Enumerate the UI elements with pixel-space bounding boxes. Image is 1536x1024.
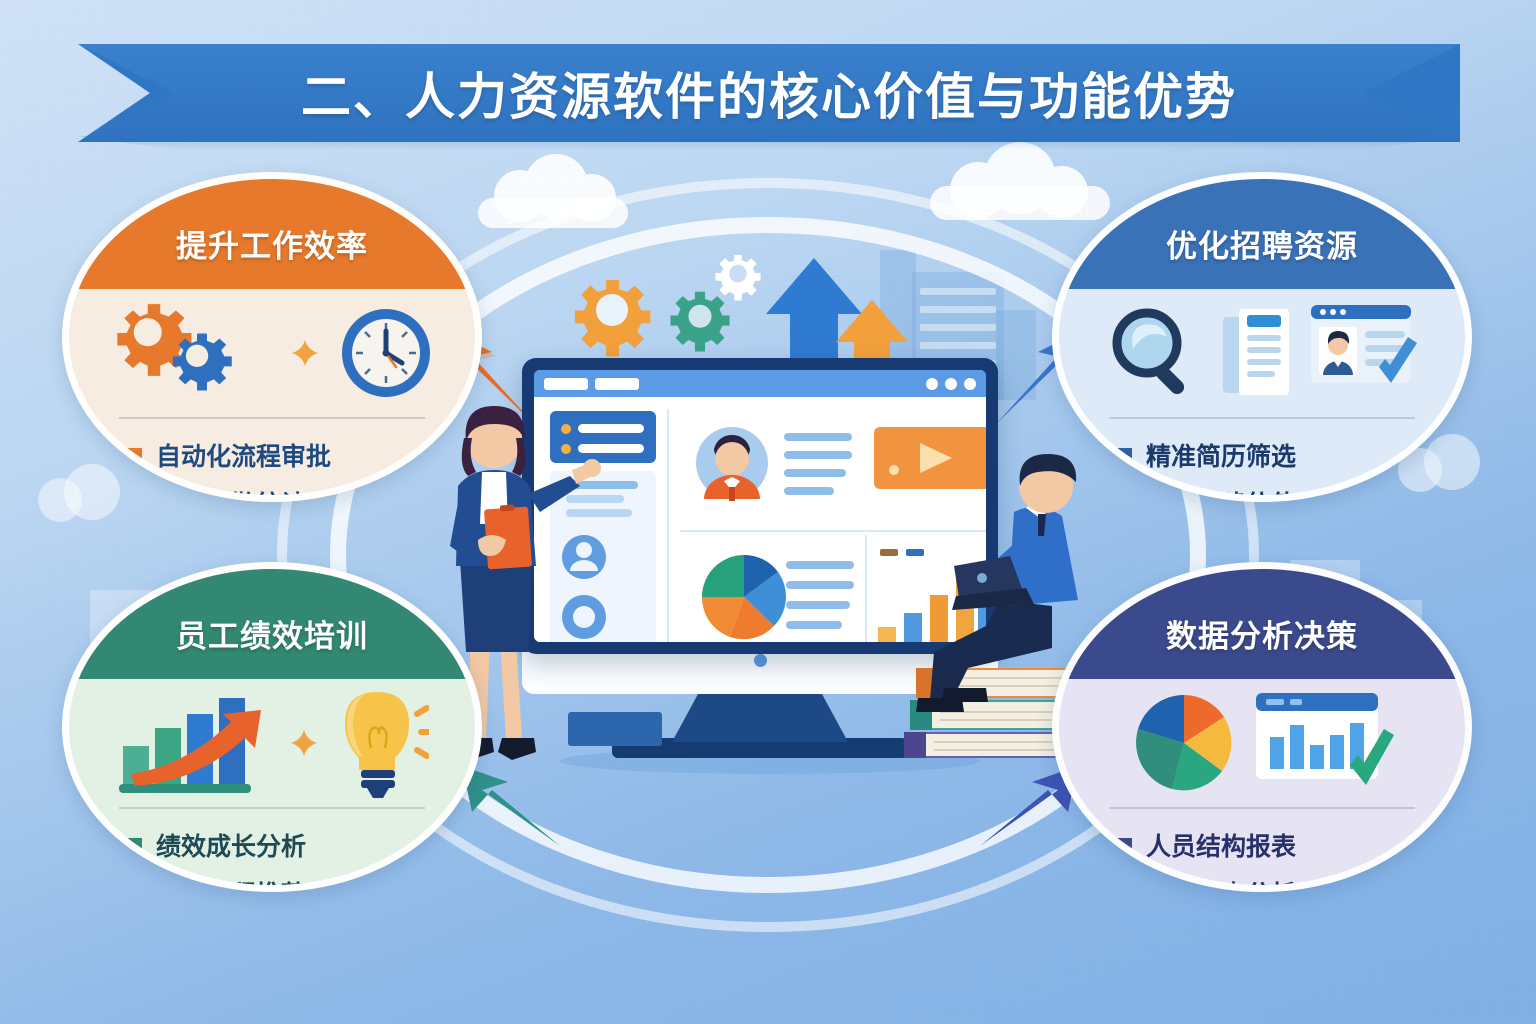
list-item: 精准简历筛选 [1117,437,1431,473]
gear-icon [173,333,232,390]
card-divider [119,417,425,419]
bullet-text: 精准简历筛选 [1146,437,1296,473]
card-icon-row [69,683,475,803]
pie-chart-icon [1130,689,1238,797]
card-bullets: 自动化流程审批 智能考勤统计 [127,437,441,502]
id-card-icon [1309,303,1421,403]
card-body: 人员结构报表 薪酬成本分析 [1059,679,1465,885]
card-bullets: 绩效成长分析 培训课程推荐 [127,827,441,892]
card-header: 提升工作效率 [69,179,475,289]
card-body: 自动化流程审批 智能考勤统计 [69,289,475,495]
list-item: 人员结构报表 [1117,827,1431,863]
card-divider [1109,417,1415,419]
card-divider [1109,807,1415,809]
card-optimize-recruiting[interactable]: 优化招聘资源 [1052,172,1472,502]
card-title: 员工绩效培训 [176,611,368,656]
lightbulb-icon [333,688,429,798]
card-body: 绩效成长分析 培训课程推荐 [69,679,475,885]
card-title: 提升工作效率 [176,221,368,266]
card-title: 优化招聘资源 [1166,221,1358,266]
clock-icon [334,301,438,405]
list-item: 绩效成长分析 [127,827,441,863]
magnifier-icon [1103,301,1207,405]
bullet-text: 自动化流程审批 [156,437,331,473]
card-icon-row [1059,683,1465,803]
card-data-analysis[interactable]: 数据分析决策 [1052,562,1472,892]
diamond-icon [291,730,317,756]
card-icon-row [69,293,475,413]
card-employee-performance[interactable]: 员工绩效培训 [62,562,482,892]
bullet-text: 人员结构报表 [1146,827,1296,863]
dashboard-icon [1254,691,1394,795]
card-bullets: 人员结构报表 薪酬成本分析 [1117,827,1431,892]
bullet-square-icon [127,448,142,463]
card-title: 数据分析决策 [1166,611,1358,656]
gears-group [106,298,276,408]
list-item: 自动化流程审批 [127,437,441,473]
diamond-icon [292,340,318,366]
card-icon-row [1059,293,1465,413]
card-header: 员工绩效培训 [69,569,475,679]
card-header: 优化招聘资源 [1059,179,1465,289]
document-icon [1223,305,1293,401]
bar-chart-up-icon [115,690,275,796]
card-bullets: 精准简历筛选 人才库建仲值 [1117,437,1431,502]
card-header: 数据分析决策 [1059,569,1465,679]
bullet-square-icon [127,838,142,853]
bullet-square-icon [1117,448,1132,463]
bullet-text: 绩效成长分析 [156,827,306,863]
bullet-square-icon [1117,838,1132,853]
card-divider [119,807,425,809]
card-body: 精准简历筛选 人才库建仲值 [1059,289,1465,495]
card-improve-efficiency[interactable]: 提升工作效率 [62,172,482,502]
